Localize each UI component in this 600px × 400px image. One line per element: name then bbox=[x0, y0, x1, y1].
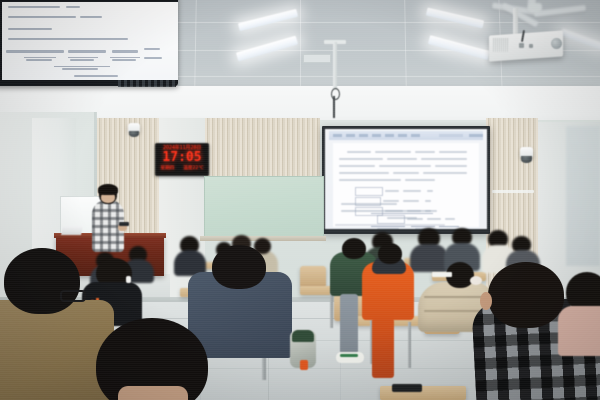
earbud bbox=[126, 276, 131, 283]
eyeglasses bbox=[60, 290, 86, 302]
backpack-tag bbox=[300, 360, 308, 370]
document-ribbon-toolbar bbox=[329, 131, 483, 140]
student-legs bbox=[372, 318, 394, 378]
projector-mount-pole bbox=[513, 8, 518, 36]
green-chalkboard bbox=[204, 176, 324, 240]
clock-weekday: 星期四 bbox=[161, 166, 175, 172]
wall-trim bbox=[492, 190, 534, 193]
projector-lens bbox=[551, 38, 562, 49]
chair-back bbox=[300, 266, 326, 288]
projector-cable bbox=[333, 96, 335, 118]
projector-drop-pole bbox=[333, 42, 337, 90]
sneaker-stripe bbox=[340, 354, 358, 357]
student-ear bbox=[480, 292, 492, 310]
led-clock-display: 2024年11月28日 17:05 星期四 温度22℃ bbox=[155, 143, 209, 176]
student-legs bbox=[340, 294, 358, 354]
dome-camera-lens bbox=[521, 156, 532, 163]
student-head bbox=[342, 238, 366, 259]
mobile-phone[interactable] bbox=[119, 222, 129, 226]
student-head bbox=[378, 243, 402, 264]
clock-temperature: 温度22℃ bbox=[183, 166, 203, 172]
projector-knob bbox=[529, 44, 533, 48]
tablet-on-desk bbox=[392, 384, 422, 392]
lecturer-hair bbox=[98, 184, 118, 195]
student-torso-khaki-jacket bbox=[0, 300, 114, 400]
clock-info-row: 星期四 温度22℃ bbox=[156, 166, 208, 172]
window-glass bbox=[566, 126, 600, 266]
student-head bbox=[4, 248, 80, 314]
wall-display-screen[interactable] bbox=[2, 2, 178, 80]
document-derivation bbox=[333, 189, 479, 229]
hair-tie bbox=[470, 276, 482, 285]
clock-time: 17:05 bbox=[156, 151, 208, 165]
backpack-flap bbox=[292, 330, 314, 342]
document-footer-line bbox=[371, 213, 433, 214]
laptop-on-lectern bbox=[61, 226, 83, 235]
student-head bbox=[212, 245, 266, 289]
student-torso bbox=[558, 306, 600, 356]
classroom-photo: 2024年11月28日 17:05 星期四 温度22℃ bbox=[0, 0, 600, 400]
student-head bbox=[488, 262, 564, 328]
puffer-quilt-line bbox=[424, 296, 486, 298]
student-neck bbox=[118, 386, 188, 400]
dome-camera-lens bbox=[129, 131, 139, 137]
projector-knob bbox=[519, 43, 524, 48]
notebook-on-desk bbox=[432, 272, 452, 277]
display-logo-strip bbox=[118, 80, 176, 87]
student-torso bbox=[410, 244, 448, 272]
ceiling-fan-hub bbox=[529, 3, 542, 12]
projection-screen-surface[interactable] bbox=[325, 129, 487, 229]
ceiling-air-vent bbox=[303, 54, 331, 63]
projector-vent bbox=[493, 38, 509, 52]
